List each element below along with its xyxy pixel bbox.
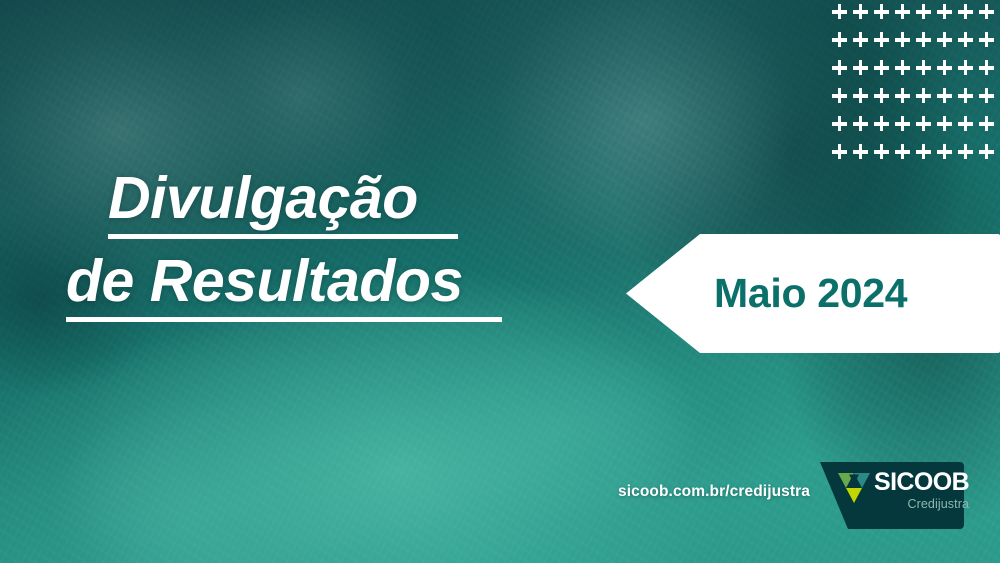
website-url[interactable]: sicoob.com.br/credijustra [618, 483, 810, 501]
plus-icon [895, 4, 916, 32]
plus-icon [937, 116, 958, 144]
logo-wordmark: SICOOB Credijustra [874, 470, 969, 511]
plus-icon [916, 60, 937, 88]
plus-icon [853, 60, 874, 88]
plus-icon [958, 88, 979, 116]
plus-icon [979, 4, 1000, 32]
plus-icon [832, 116, 853, 144]
plus-icon [874, 88, 895, 116]
slide-root: Divulgação de Resultados Maio 2024 sicoo… [0, 0, 1000, 563]
plus-icon [853, 32, 874, 60]
plus-icon [895, 144, 916, 172]
page-title-line-2: de Resultados [66, 251, 502, 312]
plus-icon [916, 116, 937, 144]
date-banner: Maio 2024 [626, 234, 1000, 353]
plus-icon [937, 32, 958, 60]
plus-icon [874, 60, 895, 88]
sicoob-triangle-icon [838, 473, 870, 503]
plus-icon [874, 144, 895, 172]
plus-icon [853, 144, 874, 172]
plus-icon [832, 32, 853, 60]
plus-icon [874, 32, 895, 60]
plus-icon [937, 144, 958, 172]
page-title: Divulgação de Resultados [66, 168, 502, 334]
plus-icon [979, 88, 1000, 116]
plus-icon [853, 88, 874, 116]
plus-icon [937, 88, 958, 116]
plus-icon [895, 88, 916, 116]
plus-icon [958, 60, 979, 88]
title-underline-2 [66, 317, 502, 322]
plus-icon [979, 144, 1000, 172]
plus-icon [916, 88, 937, 116]
plus-icon [832, 88, 853, 116]
plus-icon [895, 60, 916, 88]
plus-icon [874, 116, 895, 144]
plus-icon [979, 32, 1000, 60]
plus-icon [958, 144, 979, 172]
plus-icon [853, 116, 874, 144]
plus-icon [916, 32, 937, 60]
plus-icon [874, 4, 895, 32]
logo-name: SICOOB [874, 470, 969, 495]
logo-subtitle: Credijustra [907, 498, 969, 511]
plus-icon [916, 144, 937, 172]
plus-icon [895, 32, 916, 60]
plus-icon [832, 144, 853, 172]
plus-icon [895, 116, 916, 144]
plus-icon [958, 32, 979, 60]
plus-icon [832, 4, 853, 32]
plus-icon [958, 4, 979, 32]
plus-icon [832, 60, 853, 88]
page-title-line-1: Divulgação [108, 168, 502, 229]
sicoob-logo: SICOOB Credijustra [838, 470, 964, 522]
plus-grid-decoration [832, 4, 1000, 172]
date-label: Maio 2024 [714, 270, 907, 317]
plus-icon [979, 60, 1000, 88]
plus-icon [979, 116, 1000, 144]
title-underline-1 [108, 234, 458, 239]
plus-icon [853, 4, 874, 32]
plus-icon [937, 4, 958, 32]
plus-icon [937, 60, 958, 88]
plus-icon [958, 116, 979, 144]
plus-icon [916, 4, 937, 32]
